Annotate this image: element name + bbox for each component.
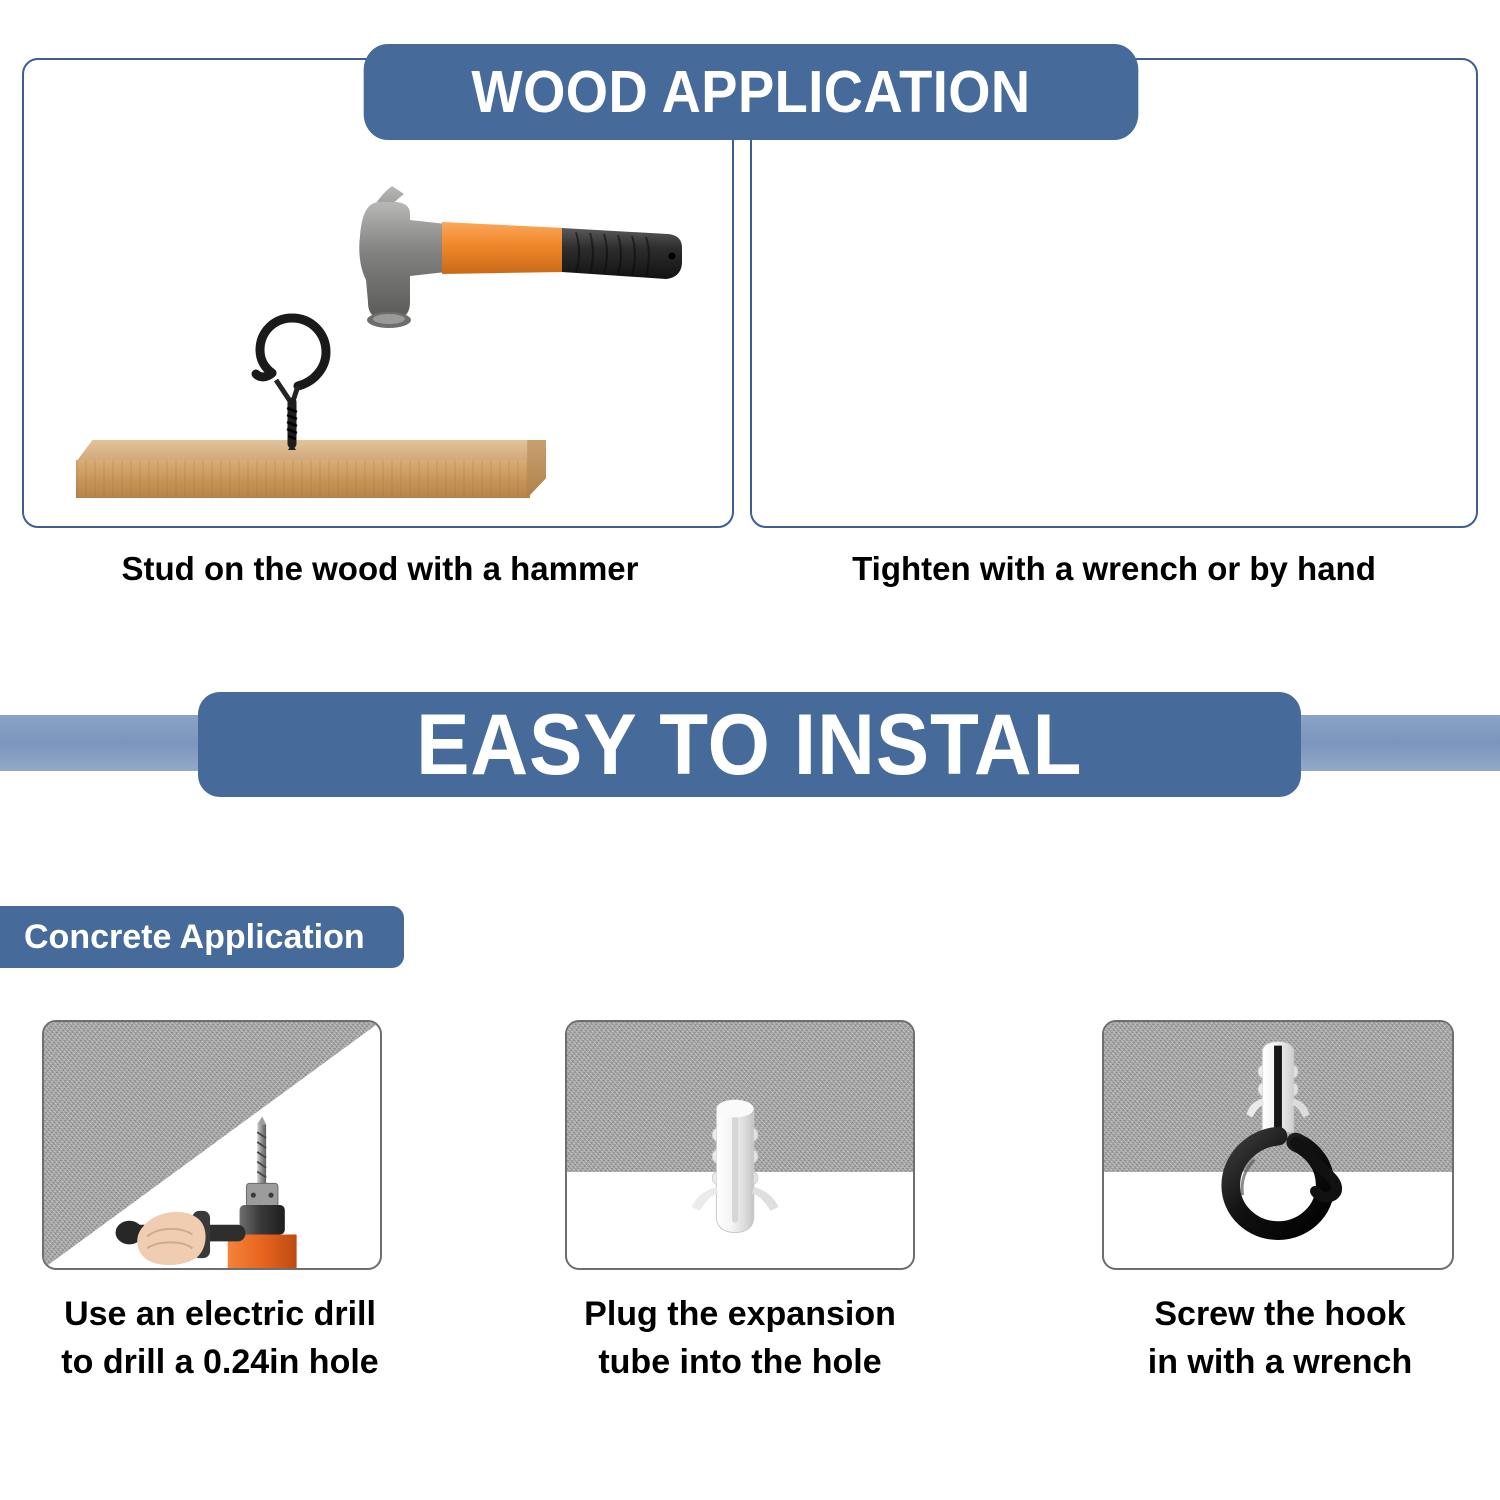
caption-wood-hammer: Stud on the wood with a hammer (30, 548, 730, 590)
concrete-card-drill (42, 1020, 382, 1270)
caption-line: in with a wrench (1060, 1338, 1500, 1386)
wood-application-banner: WOOD APPLICATION (364, 44, 1139, 140)
concrete-card-anchor (565, 1020, 915, 1270)
screw-hook-in-anchor-icon (1104, 1022, 1452, 1268)
easy-to-install-section: EASY TO INSTAL (0, 690, 1500, 810)
caption-line: Plug the expansion (520, 1290, 960, 1338)
caption-line: to drill a 0.24in hole (0, 1338, 440, 1386)
caption-line: Screw the hook (1060, 1290, 1500, 1338)
concrete-application-label: Concrete Application (0, 906, 404, 968)
caption-concrete-anchor: Plug the expansion tube into the hole (520, 1290, 960, 1386)
caption-concrete-hook: Screw the hook in with a wrench (1060, 1290, 1500, 1386)
caption-line: Use an electric drill (0, 1290, 440, 1338)
infographic-page: WOOD APPLICATION Stud on the wood with a… (0, 0, 1500, 1500)
concrete-card-hook (1102, 1020, 1454, 1270)
wood-application-banner-label: WOOD APPLICATION (471, 58, 1030, 126)
wood-application-section: WOOD APPLICATION Stud on the wood with a… (0, 0, 1500, 620)
install-banner: EASY TO INSTAL (198, 692, 1301, 797)
caption-line: tube into the hole (520, 1338, 960, 1386)
install-banner-label: EASY TO INSTAL (416, 702, 1082, 788)
caption-wood-pliers: Tighten with a wrench or by hand (752, 548, 1476, 590)
expansion-anchor-icon (567, 1022, 913, 1268)
concrete-application-section: Concrete Application (0, 890, 1500, 1500)
screw-hook-icon (246, 304, 338, 452)
caption-concrete-drill: Use an electric drill to drill a 0.24in … (0, 1290, 440, 1386)
concrete-application-label-text: Concrete Application (0, 918, 365, 957)
electric-drill-icon (44, 1022, 380, 1268)
